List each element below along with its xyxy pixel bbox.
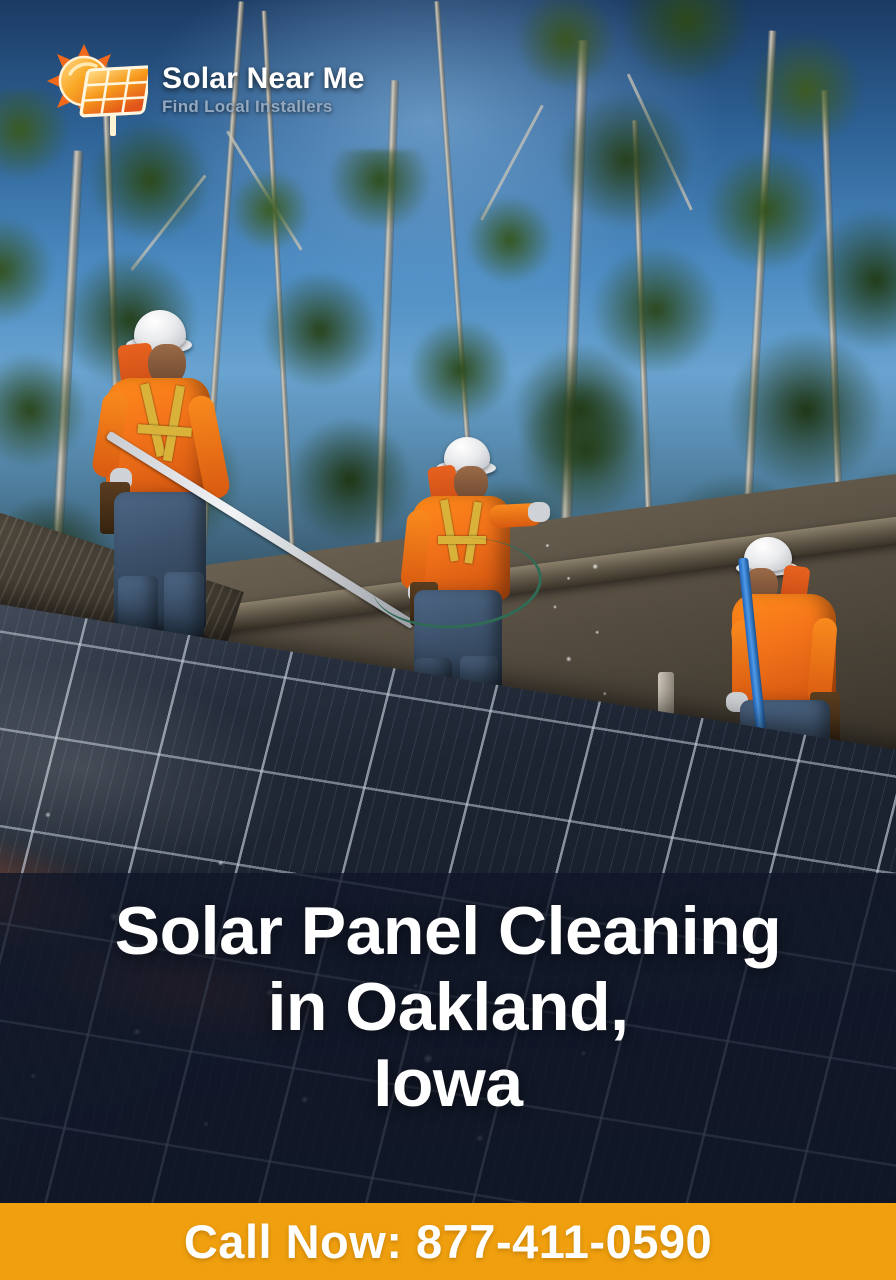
brand-name: Solar Near Me (162, 63, 365, 95)
brand-tagline: Find Local Installers (162, 96, 365, 117)
roof-vent-pipe (658, 672, 674, 716)
call-now-label[interactable]: Call Now: 877-411-0590 (184, 1214, 712, 1269)
poster-root: Solar Near Me Find Local Installers Sola… (0, 0, 896, 1280)
work-glove-right (528, 502, 550, 522)
brand-logo-text: Solar Near Me Find Local Installers (162, 63, 365, 118)
call-now-bar[interactable]: Call Now: 877-411-0590 (0, 1203, 896, 1280)
worker-left (60, 300, 260, 660)
headline-line-3: Iowa (22, 1045, 874, 1121)
solar-panel-tile (81, 67, 148, 116)
brand-logo[interactable]: Solar Near Me Find Local Installers (44, 42, 365, 138)
page-title: Solar Panel Cleaning in Oakland, Iowa (0, 893, 896, 1121)
sun-solar-panel-icon (44, 42, 148, 138)
headline-line-1: Solar Panel Cleaning (22, 893, 874, 969)
headline-line-2: in Oakland, (22, 969, 874, 1045)
